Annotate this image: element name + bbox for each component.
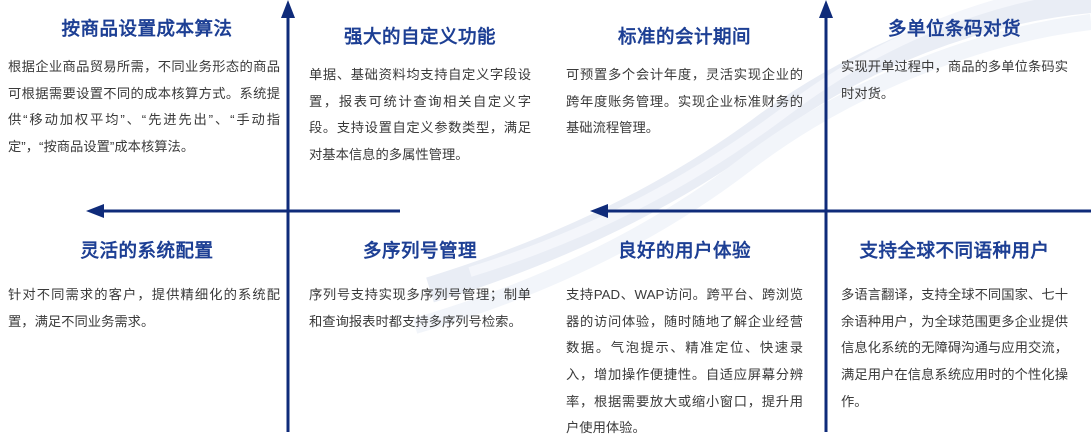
quadrant-feature-diagram: 按商品设置成本算法 根据企业商品贸易所需，不同业务形态的商品可根据需要设置不同的… [0, 0, 1091, 434]
feature-block-custom-function: 强大的自定义功能 单据、基础资料均支持自定义字段设置，报表可统计查询相关自定义字… [295, 26, 545, 169]
feature-block-global-language-support: 支持全球不同语种用户 多语言翻译，支持全球不同国家、七十余语种用户，为全球范围更… [827, 240, 1082, 415]
feature-title: 按商品设置成本算法 [4, 18, 290, 40]
feature-title: 多序列号管理 [295, 240, 545, 262]
feature-title: 灵活的系统配置 [4, 240, 290, 262]
feature-description: 支持PAD、WAP访问。跨平台、跨浏览器的访问体验，随时随地了解企业经营数据。气… [566, 282, 803, 434]
feature-description: 序列号支持实现多序列号管理；制单和查询报表时都支持多序列号检索。 [309, 282, 531, 335]
feature-description: 可预置多个会计年度，灵活实现企业的跨年度账务管理。实现企业标准财务的基础流程管理… [566, 62, 803, 142]
feature-block-multi-unit-barcode: 多单位条码对货 实现开单过程中，商品的多单位条码实时对货。 [827, 18, 1082, 107]
feature-description: 针对不同需求的客户，提供精细化的系统配置，满足不同业务需求。 [8, 282, 280, 335]
feature-description: 单据、基础资料均支持自定义字段设置，报表可统计查询相关自定义字段。支持设置自定义… [309, 62, 531, 168]
feature-title: 支持全球不同语种用户 [827, 240, 1082, 262]
feature-description: 根据企业商品贸易所需，不同业务形态的商品可根据需要设置不同的成本核算方式。系统提… [8, 54, 280, 160]
feature-title: 良好的用户体验 [552, 240, 817, 262]
feature-block-multi-serial-management: 多序列号管理 序列号支持实现多序列号管理；制单和查询报表时都支持多序列号检索。 [295, 240, 545, 335]
feature-title: 多单位条码对货 [827, 18, 1082, 40]
feature-title: 强大的自定义功能 [295, 26, 545, 48]
feature-title: 标准的会计期间 [552, 26, 817, 48]
feature-block-good-user-experience: 良好的用户体验 支持PAD、WAP访问。跨平台、跨浏览器的访问体验，随时随地了解… [552, 240, 817, 434]
feature-description: 多语言翻译，支持全球不同国家、七十余语种用户，为全球范围更多企业提供信息化系统的… [841, 282, 1068, 415]
feature-block-cost-algorithm: 按商品设置成本算法 根据企业商品贸易所需，不同业务形态的商品可根据需要设置不同的… [0, 18, 290, 161]
feature-block-accounting-period: 标准的会计期间 可预置多个会计年度，灵活实现企业的跨年度账务管理。实现企业标准财… [552, 26, 817, 142]
feature-block-flexible-system-config: 灵活的系统配置 针对不同需求的客户，提供精细化的系统配置，满足不同业务需求。 [0, 240, 290, 335]
feature-description: 实现开单过程中，商品的多单位条码实时对货。 [841, 54, 1068, 107]
